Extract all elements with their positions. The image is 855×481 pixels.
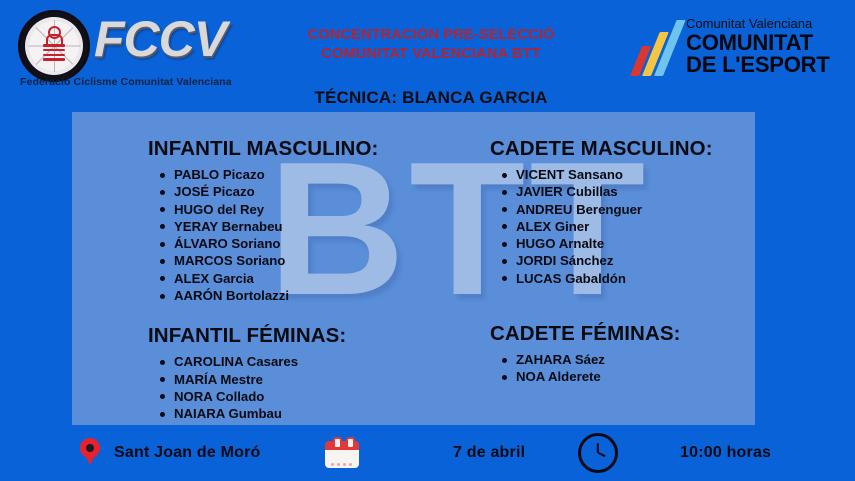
list-item: HUGO del Rey <box>174 201 448 218</box>
list-item: NAIARA Gumbau <box>174 405 448 422</box>
list-item: MARCOS Soriano <box>174 252 448 269</box>
name-list: PABLO Picazo JOSÉ Picazo HUGO del Rey YE… <box>148 166 448 304</box>
list-item: ANDREU Berenguer <box>516 201 755 218</box>
title-line-2: COMUNITAT VALENCIANA BTT <box>256 45 606 64</box>
roster-column-right: CADETE MASCULINO: VICENT Sansano JAVIER … <box>490 137 755 386</box>
comunitat-esport-logo: Comunitat Valenciana COMUNITAT DE L'ESPO… <box>626 8 848 80</box>
clock-icon <box>578 433 618 473</box>
name-list: CAROLINA Casares MARÍA Mestre NORA Colla… <box>148 353 448 425</box>
list-item: JOSÉ Picazo <box>174 183 448 200</box>
title-line-1: CONCENTRACIÓN PRE-SELECCIÓ <box>256 26 606 45</box>
footer-location: Sant Joan de Moró <box>80 425 261 481</box>
list-item: VICENT Sansano <box>516 166 755 183</box>
group-infantil-masculino: INFANTIL MASCULINO: PABLO Picazo JOSÉ Pi… <box>148 137 448 304</box>
calendar-icon <box>325 437 359 469</box>
map-pin-icon <box>80 438 100 468</box>
fccv-logo: FEDERACIOCICLISMECOMUNITATVALENCIANA FCC… <box>8 6 270 88</box>
list-item: LUCAS Gabaldón <box>516 270 755 287</box>
list-item: ALEX Garcia <box>174 270 448 287</box>
group-spacer <box>490 287 755 322</box>
name-list: ZAHARA Sáez NOA Alderete <box>490 351 755 386</box>
roster-column-left: INFANTIL MASCULINO: PABLO Picazo JOSÉ Pi… <box>148 137 448 425</box>
group-heading: CADETE FÉMINAS: <box>490 322 755 346</box>
group-cadete-masculino: CADETE MASCULINO: VICENT Sansano JAVIER … <box>490 137 755 287</box>
roster-panel: BTT INFANTIL MASCULINO: PABLO Picazo JOS… <box>72 112 755 425</box>
cve-line-1: Comunitat Valenciana <box>686 16 812 31</box>
list-item: JORDI Sánchez <box>516 252 755 269</box>
list-item: HUGO Arnalte <box>516 235 755 252</box>
list-item: PABLO Picazo <box>174 166 448 183</box>
footer-date: 7 de abril <box>325 425 525 481</box>
tecnica-label: TÉCNICA: BLANCA GARCIA <box>256 88 606 108</box>
time-text: 10:00 horas <box>680 444 771 462</box>
list-item: JAVIER Cubillas <box>516 183 755 200</box>
group-cadete-feminas: CADETE FÉMINAS: ZAHARA Sáez NOA Alderete <box>490 322 755 386</box>
list-item: ÁLVARO Soriano <box>174 235 448 252</box>
stripes-icon <box>628 20 682 76</box>
group-infantil-feminas: INFANTIL FÉMINAS: CAROLINA Casares MARÍA… <box>148 324 448 425</box>
list-item: NORA Collado <box>174 388 448 405</box>
poster-title: CONCENTRACIÓN PRE-SELECCIÓ COMUNITAT VAL… <box>256 26 606 64</box>
list-item: AARÓN Bortolazzi <box>174 287 448 304</box>
poster-footer: Sant Joan de Moró 7 de abril 10:00 horas <box>0 425 855 481</box>
group-heading: CADETE MASCULINO: <box>490 137 755 161</box>
group-spacer <box>148 304 448 324</box>
list-item: MARÍA Mestre <box>174 371 448 388</box>
list-item: YERAY Bernabeu <box>174 218 448 235</box>
list-item: NOA Alderete <box>516 368 755 385</box>
fccv-wordmark: FCCV <box>94 12 226 66</box>
list-item: CAROLINA Casares <box>174 353 448 370</box>
group-heading: INFANTIL FÉMINAS: <box>148 324 448 348</box>
crest-ring-text: FEDERACIOCICLISMECOMUNITATVALENCIANA <box>20 12 88 80</box>
fccv-subtitle: Federació Ciclisme Comunitat Valenciana <box>20 76 232 88</box>
list-item: ZAHARA Sáez <box>516 351 755 368</box>
footer-time: 10:00 horas <box>578 425 771 481</box>
poster-header: FEDERACIOCICLISMECOMUNITATVALENCIANA FCC… <box>0 0 855 112</box>
date-text: 7 de abril <box>453 444 525 462</box>
cve-line-3: DE L'ESPORT <box>686 53 830 76</box>
group-heading: INFANTIL MASCULINO: <box>148 137 448 161</box>
location-text: Sant Joan de Moró <box>114 444 261 462</box>
name-list: VICENT Sansano JAVIER Cubillas ANDREU Be… <box>490 166 755 287</box>
cve-line-2: COMUNITAT <box>686 31 813 54</box>
poster-canvas: FEDERACIOCICLISMECOMUNITATVALENCIANA FCC… <box>0 0 855 481</box>
list-item: ALEX Giner <box>516 218 755 235</box>
fccv-crest-icon: FEDERACIOCICLISMECOMUNITATVALENCIANA <box>18 10 90 82</box>
